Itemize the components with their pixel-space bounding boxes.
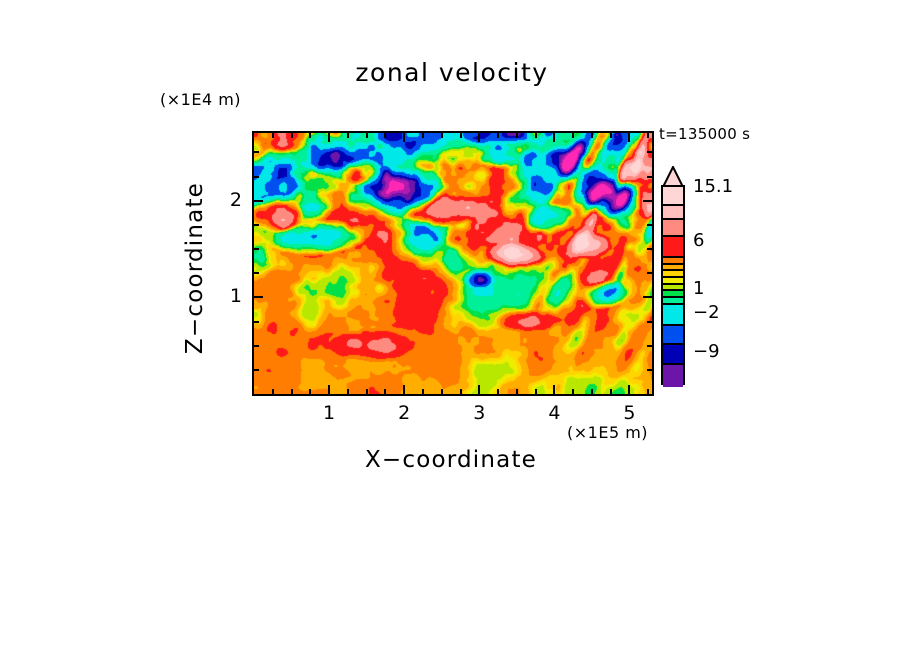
x-minor-tick xyxy=(591,389,593,394)
colorbar-band xyxy=(663,206,683,220)
x-major-tick xyxy=(478,385,480,394)
x-minor-tick xyxy=(272,389,274,394)
y-major-tick xyxy=(254,296,263,298)
x-tick-label: 4 xyxy=(534,402,574,424)
x-minor-tick xyxy=(497,389,499,394)
colorbar-band xyxy=(663,345,683,364)
x-minor-tick xyxy=(441,389,443,394)
colorbar-band xyxy=(663,265,683,272)
y-minor-tick-right xyxy=(647,176,652,178)
x-minor-tick-top xyxy=(535,133,537,138)
x-minor-tick-top xyxy=(516,133,518,138)
x-major-tick xyxy=(328,385,330,394)
x-major-tick-top xyxy=(478,133,480,142)
x-minor-tick xyxy=(422,389,424,394)
x-major-tick xyxy=(553,385,555,394)
x-minor-tick-top xyxy=(309,133,311,138)
y-minor-tick-right xyxy=(647,272,652,274)
x-minor-tick xyxy=(572,389,574,394)
y-minor-tick xyxy=(254,272,259,274)
y-minor-tick xyxy=(254,151,259,153)
x-tick-label: 5 xyxy=(609,402,649,424)
y-minor-tick xyxy=(254,224,259,226)
colorbar-band xyxy=(663,237,683,258)
y-minor-tick xyxy=(254,248,259,250)
x-minor-tick-top xyxy=(272,133,274,138)
colorbar-band xyxy=(663,278,683,285)
y-tick-label: 2 xyxy=(202,189,242,211)
x-minor-tick-top xyxy=(647,133,649,138)
x-major-tick-top xyxy=(328,133,330,142)
x-tick-label: 1 xyxy=(309,402,349,424)
x-minor-tick-top xyxy=(610,133,612,138)
x-minor-tick xyxy=(460,389,462,394)
time-stamp-label: t=135000 s xyxy=(659,125,750,143)
x-minor-tick xyxy=(516,389,518,394)
velocity-field-heatmap xyxy=(254,133,652,394)
contour-plot-area xyxy=(252,131,654,396)
colorbar-band xyxy=(663,271,683,278)
y-minor-tick xyxy=(254,345,259,347)
x-minor-tick xyxy=(347,389,349,394)
x-minor-tick-top xyxy=(591,133,593,138)
colorbar-tick-label: 6 xyxy=(693,230,704,251)
colorbar-tick-label: 1 xyxy=(693,278,704,299)
colorbar-band xyxy=(663,298,683,305)
x-major-tick xyxy=(403,385,405,394)
x-major-tick-top xyxy=(553,133,555,142)
x-minor-tick-top xyxy=(384,133,386,138)
y-minor-tick-right xyxy=(647,345,652,347)
y-minor-tick xyxy=(254,321,259,323)
x-major-tick-top xyxy=(403,133,405,142)
x-tick-label: 2 xyxy=(384,402,424,424)
colorbar xyxy=(661,185,685,385)
x-major-tick-top xyxy=(628,133,630,142)
y-minor-tick-right xyxy=(647,369,652,371)
x-axis-title: X−coordinate xyxy=(251,447,651,473)
x-minor-tick-top xyxy=(460,133,462,138)
colorbar-band xyxy=(663,305,683,326)
y-minor-tick-right xyxy=(647,224,652,226)
y-axis-title: Z−coordinate xyxy=(182,68,208,468)
x-minor-tick-top xyxy=(347,133,349,138)
y-major-tick-right xyxy=(643,200,652,202)
y-tick-label: 1 xyxy=(202,285,242,307)
x-minor-tick xyxy=(309,389,311,394)
x-minor-tick-top xyxy=(497,133,499,138)
y-minor-tick-right xyxy=(647,248,652,250)
x-minor-tick xyxy=(610,389,612,394)
x-minor-tick-top xyxy=(422,133,424,138)
x-minor-tick xyxy=(535,389,537,394)
colorbar-extend-arrow xyxy=(661,166,685,187)
figure-canvas: zonal velocity (×1E4 m) (×1E5 m) t=13500… xyxy=(0,0,904,654)
x-minor-tick-top xyxy=(291,133,293,138)
x-minor-tick-top xyxy=(366,133,368,138)
colorbar-band xyxy=(663,326,683,345)
x-minor-tick xyxy=(366,389,368,394)
colorbar-band xyxy=(663,291,683,298)
x-minor-tick-top xyxy=(441,133,443,138)
colorbar-tick-label: −9 xyxy=(693,341,720,362)
x-minor-tick xyxy=(647,389,649,394)
colorbar-band xyxy=(663,258,683,265)
y-minor-tick-right xyxy=(647,321,652,323)
page-title: zonal velocity xyxy=(252,58,652,87)
x-tick-label: 3 xyxy=(459,402,499,424)
y-major-tick xyxy=(254,200,263,202)
y-major-tick-right xyxy=(643,296,652,298)
colorbar-band xyxy=(663,365,683,387)
x-minor-tick xyxy=(291,389,293,394)
colorbar-arrow-triangle xyxy=(664,167,683,186)
colorbar-tick-label: −2 xyxy=(693,302,720,323)
colorbar-band xyxy=(663,285,683,292)
x-minor-tick-top xyxy=(572,133,574,138)
colorbar-band xyxy=(663,187,683,206)
y-minor-tick xyxy=(254,369,259,371)
x-major-tick xyxy=(628,385,630,394)
y-minor-tick-right xyxy=(647,151,652,153)
y-minor-tick xyxy=(254,176,259,178)
x-minor-tick xyxy=(384,389,386,394)
x-axis-units-label: (×1E5 m) xyxy=(567,423,648,442)
colorbar-band xyxy=(663,220,683,237)
colorbar-tick-label: 15.1 xyxy=(693,176,733,197)
